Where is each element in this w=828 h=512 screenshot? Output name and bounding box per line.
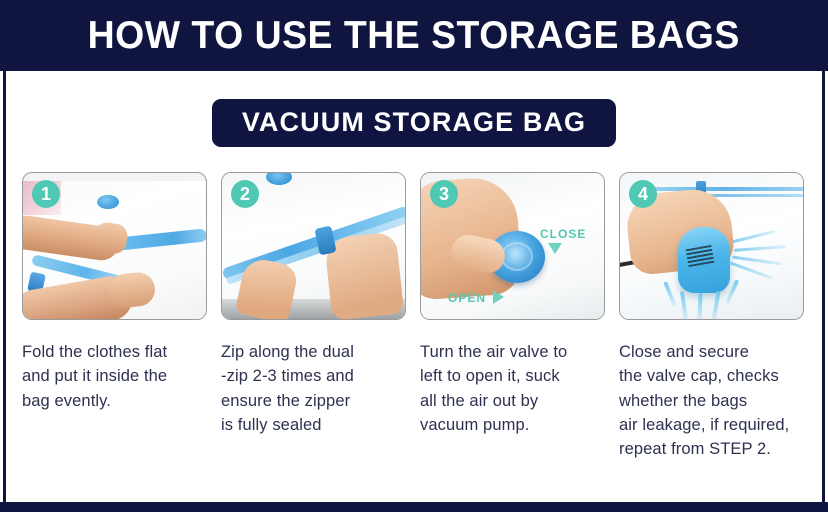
step-4-caption: Close and secure the valve cap, checks w… [619,340,804,461]
header-bar: HOW TO USE THE STORAGE BAGS [0,0,828,71]
steps-row: 1 Fold the clothes flat and put it insid… [22,172,808,461]
step-1-caption: Fold the clothes flat and put it inside … [22,340,207,413]
subtitle-badge: VACUUM STORAGE BAG [212,99,616,147]
valve-close-label: CLOSE [540,227,586,241]
zip-strip [634,187,803,191]
pump-vent-grille-icon [686,245,715,267]
air-valve-icon [97,195,119,209]
infographic-root: HOW TO USE THE STORAGE BAGS VACUUM STORA… [0,0,828,512]
vacuum-pump-icon [678,227,730,293]
step-2-photo: 2 [221,172,406,320]
arrow-down-icon [548,243,562,254]
step-2: 2 Zip along the dual -zip 2-3 times and … [221,172,406,461]
right-hand [324,231,404,319]
subtitle-container: VACUUM STORAGE BAG [0,99,828,147]
step-number-badge-4: 4 [629,180,657,208]
arrow-right-icon [493,290,504,304]
step-number-badge-1: 1 [32,180,60,208]
page-title: HOW TO USE THE STORAGE BAGS [88,16,740,55]
valve-open-label: OPEN [448,291,486,305]
step-4: 4 Close and secure the valve cap, checks… [619,172,804,461]
step-4-photo: 4 [619,172,804,320]
footer-bar [0,502,828,512]
step-number-badge-2: 2 [231,180,259,208]
step-2-caption: Zip along the dual -zip 2-3 times and en… [221,340,406,437]
step-3: CLOSE OPEN 3 Turn the air valve to left … [420,172,605,461]
step-3-photo: CLOSE OPEN 3 [420,172,605,320]
step-1-photo: 1 [22,172,207,320]
step-1: 1 Fold the clothes flat and put it insid… [22,172,207,461]
step-number-badge-3: 3 [430,180,458,208]
step-3-caption: Turn the air valve to left to open it, s… [420,340,605,437]
